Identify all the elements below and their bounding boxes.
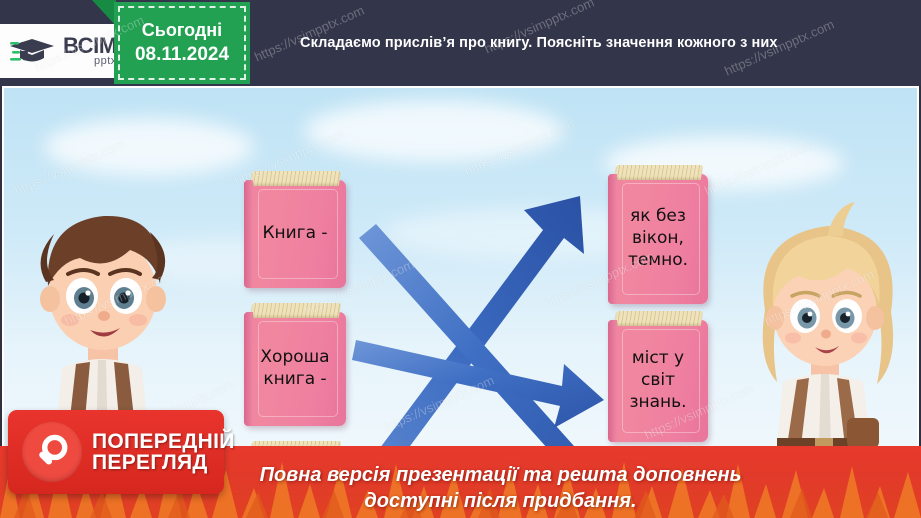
book-card[interactable]: міст у світ знань.: [608, 320, 708, 442]
preview-badge-line2: ПЕРЕГЛЯД: [92, 452, 235, 473]
book-text: як без вікон, темно.: [624, 206, 692, 271]
book-text: Книга -: [258, 223, 331, 245]
logo-text: ВСІМ pptx: [63, 35, 117, 67]
today-date: 08.11.2024: [135, 44, 229, 66]
book-pages-icon: [614, 165, 703, 180]
book-spine: [244, 312, 253, 426]
book-card[interactable]: Хороша книга -: [244, 312, 346, 426]
purchase-notice-line1: Повна версія презентації та решта доповн…: [200, 462, 801, 488]
graduation-cap-icon: [10, 34, 58, 68]
preview-badge[interactable]: ПОПЕРЕДНІЙ ПЕРЕГЛЯД: [8, 410, 224, 494]
book-card[interactable]: Книга -: [244, 180, 346, 288]
today-date-badge: Сьогодні 08.11.2024: [114, 2, 250, 84]
book-pages-icon: [614, 311, 703, 326]
book-pages-icon: [250, 303, 341, 318]
magnifier-icon: [22, 422, 82, 482]
book-pages-icon: [250, 171, 341, 186]
book-text: міст у світ знань.: [625, 348, 690, 413]
book-spine: [608, 320, 617, 442]
brand-logo[interactable]: ВСІМ pptx: [0, 24, 132, 78]
slide-viewer: Складаємо прислів’я про книгу. Поясніть …: [0, 0, 921, 518]
preview-badge-line1: ПОПЕРЕДНІЙ: [92, 431, 235, 452]
page-title: Складаємо прислів’я про книгу. Поясніть …: [300, 35, 900, 51]
preview-badge-label: ПОПЕРЕДНІЙ ПЕРЕГЛЯД: [92, 431, 235, 474]
book-spine: [608, 174, 617, 304]
book-card[interactable]: як без вікон, темно.: [608, 174, 708, 304]
book-text: Хороша книга -: [256, 347, 333, 391]
book-spine: [244, 180, 253, 288]
today-label: Сьогодні: [142, 20, 222, 41]
purchase-notice-line2: доступні після придбання.: [200, 488, 801, 514]
